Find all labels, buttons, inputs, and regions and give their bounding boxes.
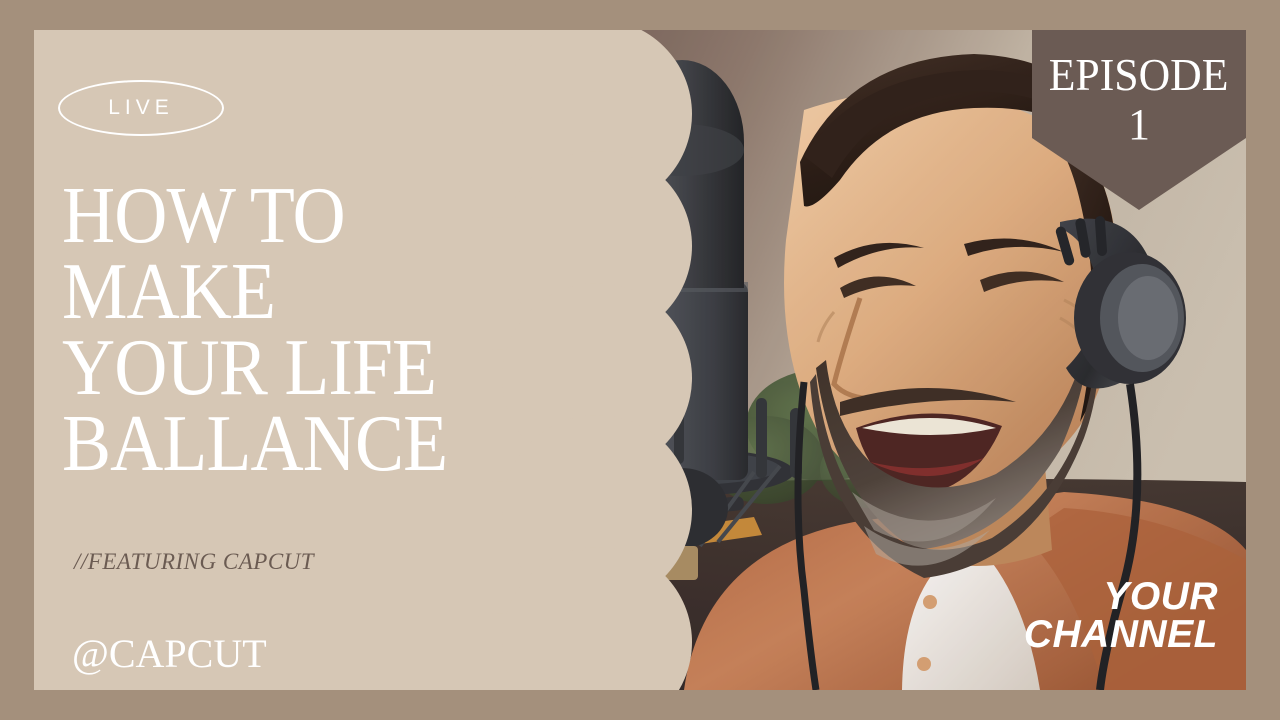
episode-badge-number: 1 [1128, 102, 1150, 148]
channel-name-line-2: CHANNEL [1024, 616, 1218, 654]
title-line-1: HOW TO [62, 178, 458, 254]
channel-name-line-1: YOUR [1024, 578, 1218, 616]
live-badge: LIVE [58, 80, 224, 136]
title-line-4: BALLANCE [62, 406, 458, 482]
featuring-subtitle: //FEATURING CAPCUT [74, 549, 314, 575]
thumbnail-canvas: LIVE HOW TO MAKE YOUR LIFE BALLANCE //FE… [0, 0, 1280, 720]
channel-name: YOUR CHANNEL [1024, 578, 1218, 654]
title-line-2: MAKE [62, 254, 458, 330]
episode-badge-label: EPISODE [1049, 52, 1229, 98]
thumbnail-card: LIVE HOW TO MAKE YOUR LIFE BALLANCE //FE… [34, 30, 1246, 690]
page-title: HOW TO MAKE YOUR LIFE BALLANCE [62, 178, 458, 482]
title-line-3: YOUR LIFE [62, 330, 458, 406]
live-badge-label: LIVE [108, 96, 174, 120]
social-handle: @CAPCUT [72, 630, 267, 677]
